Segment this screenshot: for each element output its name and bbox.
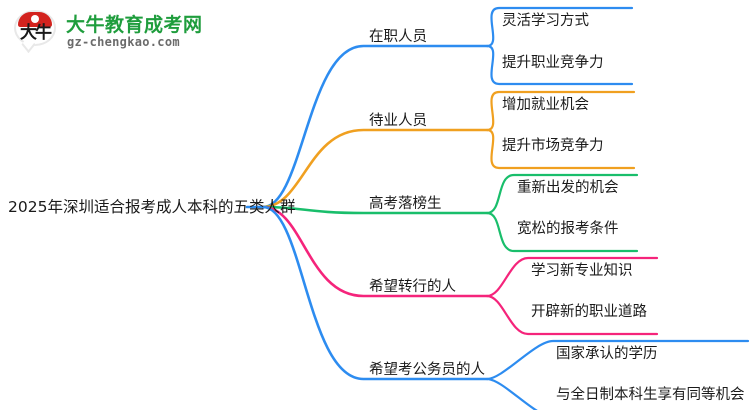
mindmap-canvas: 大牛 大牛教育成考网 gz-chengkao.com 2025年深圳适合报考成人…: [0, 0, 750, 410]
leaf-label-1-2[interactable]: 提升职业竞争力: [502, 55, 604, 72]
leaf-label-4-2[interactable]: 开辟新的职业道路: [531, 304, 647, 321]
leaf-label-1-1[interactable]: 灵活学习方式: [502, 13, 589, 30]
branch-label-3[interactable]: 高考落榜生: [369, 196, 442, 213]
branch-label-4[interactable]: 希望转行的人: [369, 279, 456, 296]
leaf-label-3-1[interactable]: 重新出发的机会: [517, 180, 619, 197]
leaf-label-4-1[interactable]: 学习新专业知识: [531, 263, 633, 280]
leaf-label-5-2[interactable]: 与全日制本科生享有同等机会: [556, 387, 745, 404]
leaf-label-2-1[interactable]: 增加就业机会: [502, 97, 589, 114]
branch-label-5[interactable]: 希望考公务员的人: [369, 362, 485, 379]
leaf-label-3-2[interactable]: 宽松的报考条件: [517, 221, 619, 238]
branch-label-1[interactable]: 在职人员: [369, 29, 427, 46]
branch-label-2[interactable]: 待业人员: [369, 113, 427, 130]
leaf-label-5-1[interactable]: 国家承认的学历: [556, 346, 658, 363]
leaf-label-2-2[interactable]: 提升市场竞争力: [502, 138, 604, 155]
root-node-label: 2025年深圳适合报考成人本科的五类人群: [8, 198, 295, 216]
